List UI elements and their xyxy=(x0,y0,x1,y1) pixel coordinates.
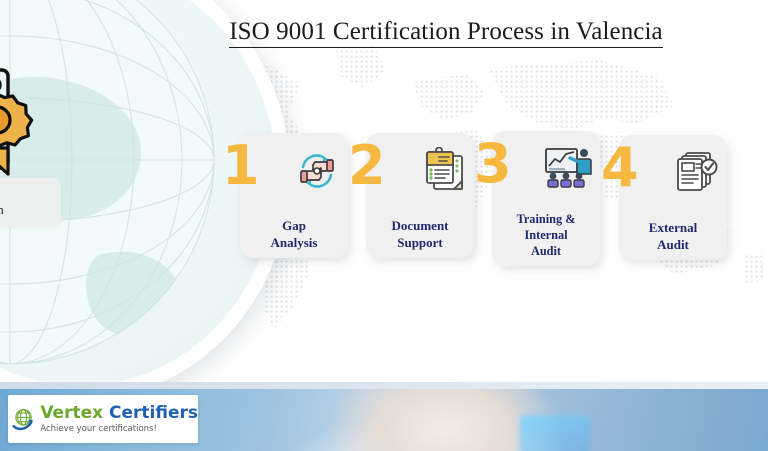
certificate-seal-icon xyxy=(0,50,34,178)
globe-arrow-logo-icon xyxy=(12,399,37,439)
brand-part-certifiers: Certifiers xyxy=(109,403,198,423)
step-2-line2: Support xyxy=(366,235,474,252)
poster-canvas: ISO 9001 Certification ISO 9001 Certific… xyxy=(0,0,768,451)
step-card-document-support[interactable]: 2 Document xyxy=(366,133,474,258)
training-presentation-icon xyxy=(543,145,593,191)
step-card-external-audit[interactable]: 4 External A xyxy=(619,135,727,260)
banner-divider xyxy=(0,382,768,389)
step-1-line1: Gap xyxy=(240,218,348,235)
cert-label-line1: ISO 9001 xyxy=(0,185,57,202)
brand-name: Vertex Certifiers xyxy=(40,404,198,423)
step-number-3: 3 xyxy=(474,137,512,191)
step-card-gap-analysis[interactable]: 1 Gap Analysis xyxy=(240,133,348,258)
company-logo[interactable]: Vertex Certifiers Achieve your certifica… xyxy=(8,395,198,443)
logo-text: Vertex Certifiers Achieve your certifica… xyxy=(40,404,198,434)
step-label-2: Document Support xyxy=(366,218,474,251)
brand-tagline: Achieve your certifications! xyxy=(40,424,198,434)
step-number-1: 1 xyxy=(222,139,260,193)
page-title-text: ISO 9001 Certification Process in Valenc… xyxy=(229,18,663,48)
step-2-line1: Document xyxy=(366,218,474,235)
document-clipboard-icon xyxy=(421,147,467,195)
step-1-line2: Analysis xyxy=(240,235,348,252)
step-4-line1: External xyxy=(619,220,727,237)
footer-banner: Vertex Certifiers Achieve your certifica… xyxy=(0,389,768,451)
step-card-training-internal-audit[interactable]: 3 Training & Internal Audit xyxy=(492,131,600,266)
step-3-line1: Training & xyxy=(492,211,600,227)
iso-certification-label: ISO 9001 Certification xyxy=(0,178,61,227)
process-steps: 1 Gap Analysis xyxy=(236,133,756,278)
handshake-collaboration-icon xyxy=(293,147,341,195)
step-label-3: Training & Internal Audit xyxy=(492,211,600,259)
step-label-1: Gap Analysis xyxy=(240,218,348,251)
step-number-4: 4 xyxy=(601,141,639,195)
iso-certification-badge: ISO 9001 Certification xyxy=(0,50,48,210)
page-title: ISO 9001 Certification Process in Valenc… xyxy=(196,18,696,46)
step-3-line2: Internal xyxy=(492,227,600,243)
step-4-line2: Audit xyxy=(619,237,727,254)
step-number-2: 2 xyxy=(348,139,386,193)
brand-part-vertex: Vertex xyxy=(40,403,103,423)
cert-label-line2: Certification xyxy=(0,202,57,219)
audit-documents-check-icon xyxy=(672,149,720,197)
step-label-4: External Audit xyxy=(619,220,727,253)
step-3-line3: Audit xyxy=(492,243,600,259)
